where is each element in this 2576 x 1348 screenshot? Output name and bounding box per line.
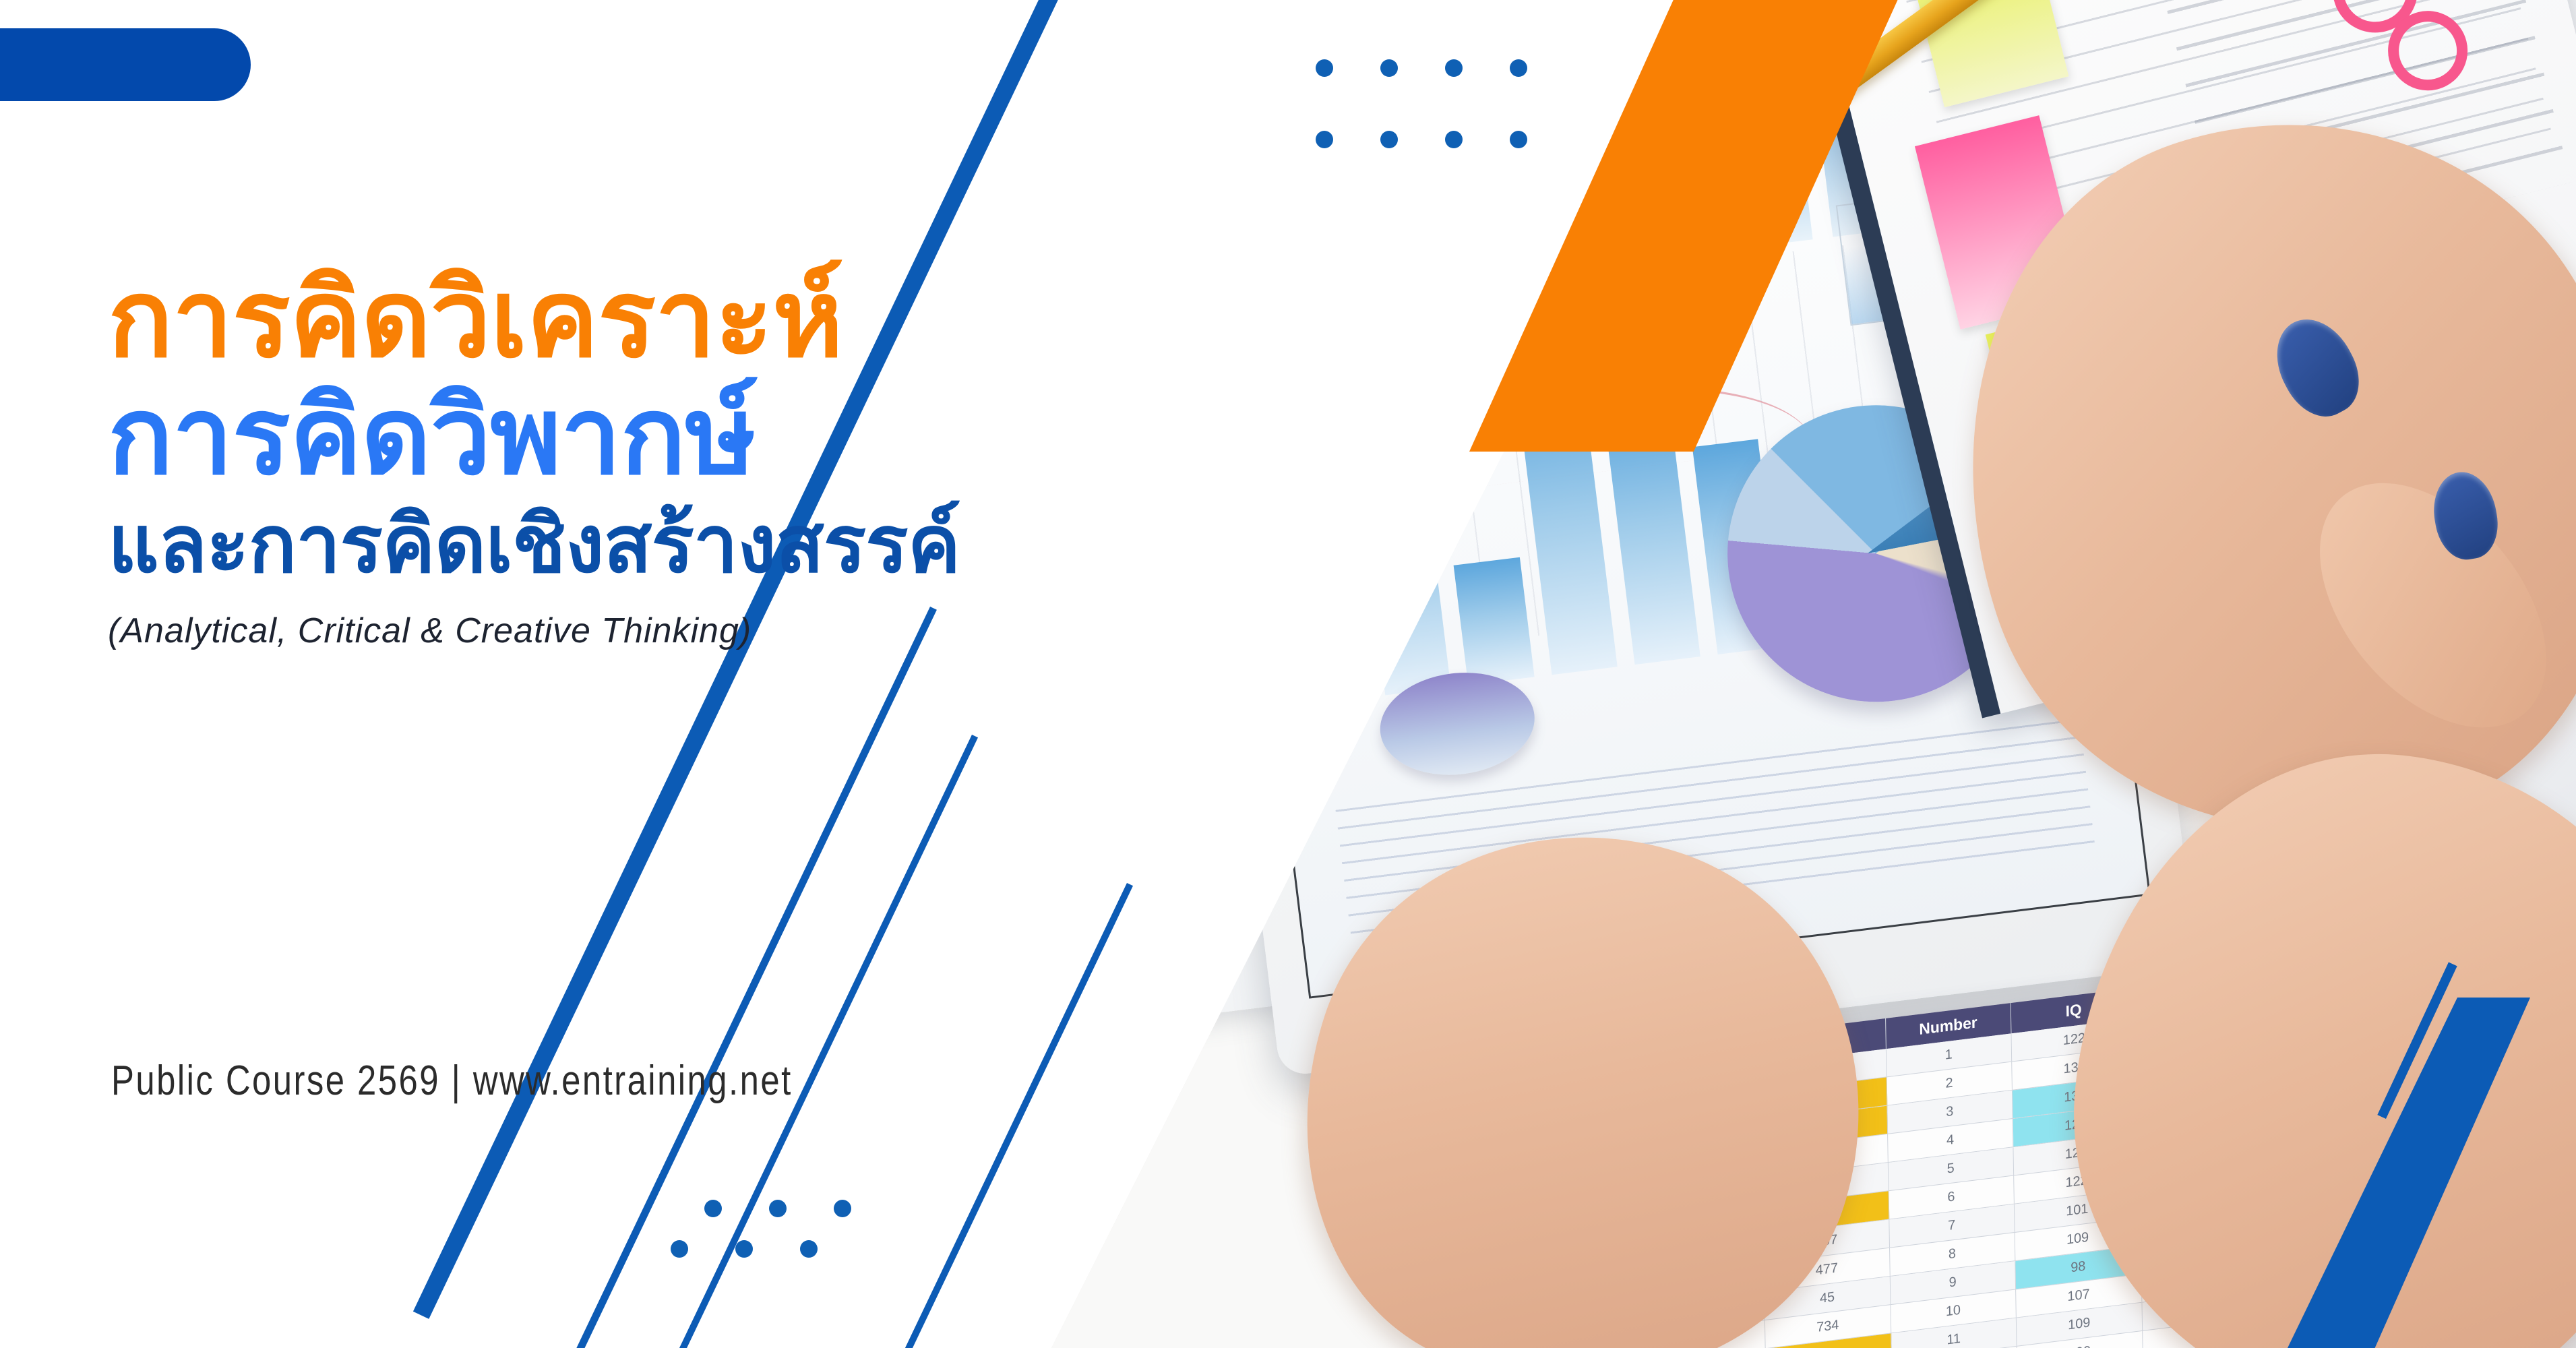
rounded-pill-shape: [0, 28, 251, 101]
title-block: การคิดวิเคราะห์ การคิดวิพากษ์ และการคิดเ…: [108, 263, 1065, 651]
subtitle-english: (Analytical, Critical & Creative Thinkin…: [108, 611, 1065, 651]
photo-background: Depth Number IQ Time Deliver Mode 346511…: [1051, 0, 2576, 1348]
blue-diagonal-edge-stripe: [413, 0, 1068, 1319]
dot-grid-bottom-lower: [671, 1240, 865, 1241]
title-line-critical: การคิดวิพากษ์: [108, 380, 1065, 492]
thumb: [2275, 441, 2576, 770]
dot-grid-top-right: [1316, 59, 1574, 202]
course-banner: Depth Number IQ Time Deliver Mode 346511…: [0, 0, 2576, 1348]
dot-grid-bottom-upper: [704, 1200, 898, 1200]
hero-photo: Depth Number IQ Time Deliver Mode 346511…: [1051, 0, 2576, 1348]
title-line-creative: และการคิดเชิงสร้างสรรค์: [108, 503, 1065, 586]
footer-course-info: Public Course 2569 | www.entraining.net: [111, 1057, 793, 1105]
title-line-analytical: การคิดวิเคราะห์: [108, 263, 1065, 375]
blue-diagonal-thin-line: [565, 607, 937, 1348]
